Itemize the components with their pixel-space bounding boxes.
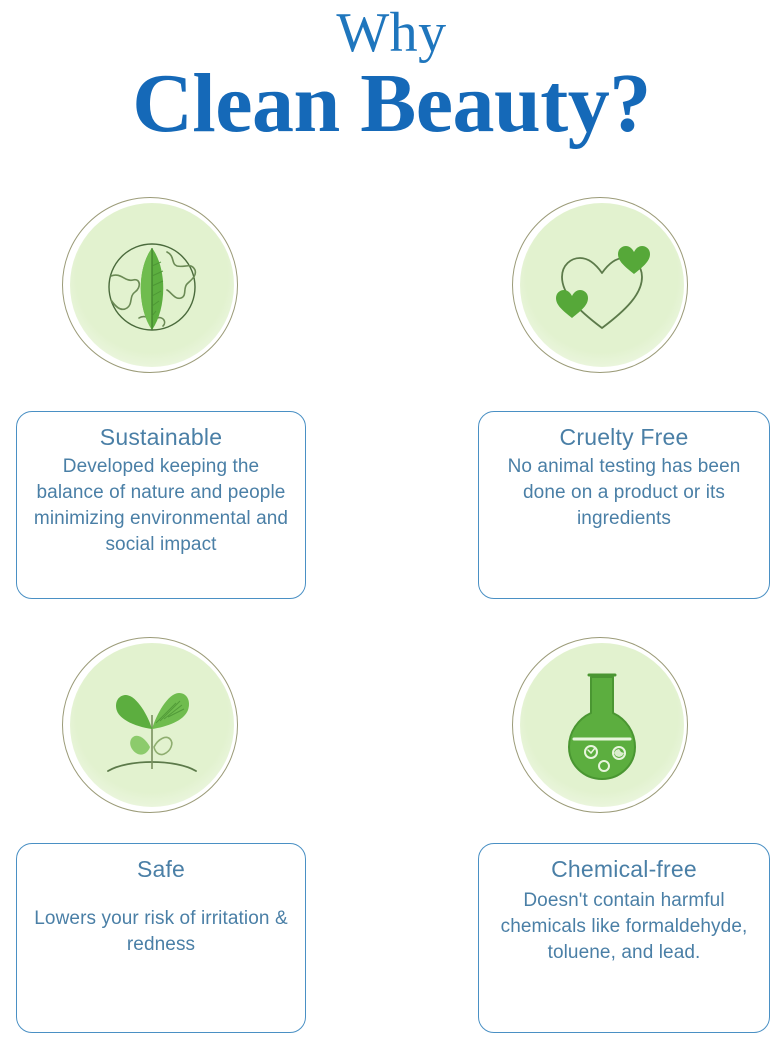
- title-line-1: Why: [0, 0, 783, 64]
- icon-hearts: [512, 197, 692, 377]
- card-title: Safe: [31, 854, 291, 884]
- card-chemical-free: Chemical-free Doesn't contain harmful ch…: [478, 843, 770, 1033]
- card-title: Cruelty Free: [493, 422, 755, 452]
- heart-sprout-icon: [62, 637, 242, 817]
- card-body: Doesn't contain harmful chemicals like f…: [493, 888, 755, 966]
- icon-globe-leaf: [62, 197, 242, 377]
- icon-heart-sprout: [62, 637, 242, 817]
- card-sustainable: Sustainable Developed keeping the balanc…: [16, 411, 306, 599]
- card-title: Chemical-free: [493, 854, 755, 884]
- card-body: Developed keeping the balance of nature …: [31, 454, 291, 558]
- card-body: Lowers your risk of irritation & redness: [31, 906, 291, 958]
- title-line-2: Clean Beauty?: [0, 58, 783, 150]
- card-safe: Safe Lowers your risk of irritation & re…: [16, 843, 306, 1033]
- globe-leaf-icon: [62, 197, 242, 377]
- flask-icon: [512, 637, 692, 817]
- page-title: Why Clean Beauty?: [0, 0, 783, 150]
- card-body: No animal testing has been done on a pro…: [493, 454, 755, 532]
- hearts-icon: [512, 197, 692, 377]
- icon-flask: [512, 637, 692, 817]
- card-title: Sustainable: [31, 422, 291, 452]
- card-cruelty-free: Cruelty Free No animal testing has been …: [478, 411, 770, 599]
- infographic-page: Why Clean Beauty?: [0, 0, 783, 1050]
